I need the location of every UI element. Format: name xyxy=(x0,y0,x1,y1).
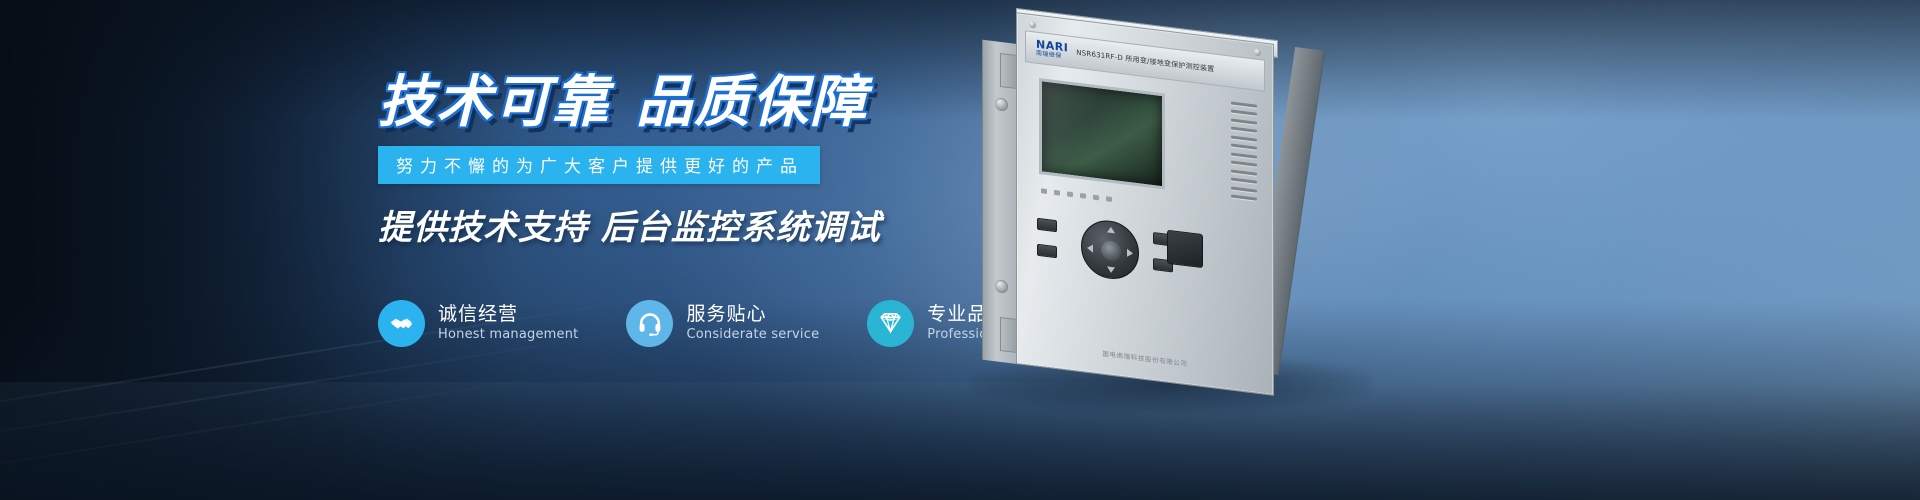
keypad-button-top-left[interactable] xyxy=(1037,218,1057,232)
product-mount-ear-top xyxy=(1000,53,1017,89)
product-model-label: NSR631RF-D 所用变/接地变保护测控装置 xyxy=(1076,48,1214,75)
feature-subtitle: Considerate service xyxy=(686,328,819,343)
feature-text: 诚信经营 Honest management xyxy=(438,304,578,343)
headset-icon xyxy=(626,300,673,347)
product-lcd-screen xyxy=(1039,78,1165,189)
feature-text: 服务贴心 Considerate service xyxy=(686,304,819,343)
keypad-dpad-center[interactable] xyxy=(1101,240,1121,262)
panel-screw-right xyxy=(1254,48,1261,56)
headline-part-1: 技术可靠 xyxy=(378,70,610,135)
banner-subline: 提供技术支持 后台监控系统调试 xyxy=(378,200,898,249)
handshake-icon xyxy=(378,300,425,347)
keypad-dpad[interactable] xyxy=(1081,217,1139,282)
diamond-icon xyxy=(867,300,914,347)
product-mount-ear-bottom xyxy=(1000,317,1017,353)
product-led-indicators xyxy=(1041,188,1112,202)
hero-banner: 技术可靠品质保障 努力不懈的为广大客户提供更好的产品 提供技术支持 后台监控系统… xyxy=(0,0,1920,500)
feature-title: 服务贴心 xyxy=(686,304,819,325)
product-image: NARI 南瑞继保 NSR631RF-D 所用变/接地变保护测控装置 xyxy=(960,18,1380,438)
feature-item-honest-management[interactable]: 诚信经营 Honest management xyxy=(378,300,578,347)
feature-subtitle: Honest management xyxy=(438,328,578,343)
feature-list: 诚信经营 Honest management 服务贴心 Considerate … xyxy=(378,300,1058,347)
banner-ribbon: 努力不懈的为广大客户提供更好的产品 xyxy=(378,146,820,184)
panel-screw-left xyxy=(1029,21,1036,29)
headline-part-2: 品质保障 xyxy=(636,70,868,135)
keypad-button-bottom-left[interactable] xyxy=(1037,244,1057,258)
banner-headline: 技术可靠品质保障 xyxy=(378,74,898,132)
product-front-panel: NARI 南瑞继保 NSR631RF-D 所用变/接地变保护测控装置 xyxy=(1016,12,1274,396)
product-brand: NARI 南瑞继保 xyxy=(1036,39,1068,61)
product-vent-grille xyxy=(1231,102,1257,201)
copy-block: 技术可靠品质保障 努力不懈的为广大客户提供更好的产品 提供技术支持 后台监控系统… xyxy=(378,74,898,249)
product-front-port xyxy=(1167,230,1203,268)
feature-item-considerate-service[interactable]: 服务贴心 Considerate service xyxy=(626,300,819,347)
feature-title: 诚信经营 xyxy=(438,304,578,325)
